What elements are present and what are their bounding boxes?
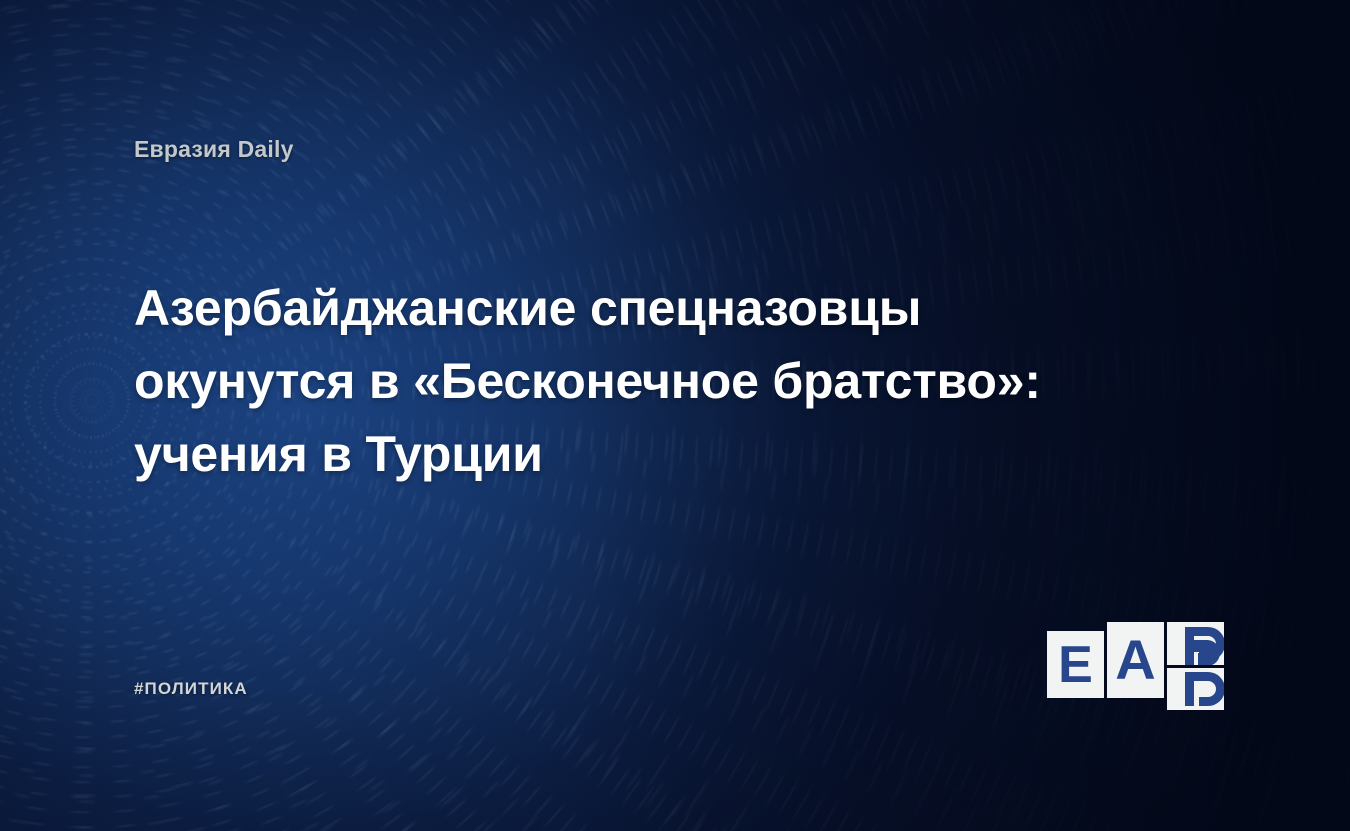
logo-letter-d-icon [1167, 622, 1224, 710]
eadaily-logo[interactable]: E A [1047, 622, 1222, 710]
page-title: Азербайджанские спецназовцы окунутся в «… [134, 272, 1154, 491]
headline-line-2: окунутся в «Бесконечное братство»: [134, 345, 1154, 418]
logo-tile-e: E [1047, 631, 1104, 698]
article-share-card: Евразия Daily Азербайджанские спецназовц… [0, 0, 1350, 831]
card-content: Евразия Daily Азербайджанские спецназовц… [0, 0, 1350, 831]
headline-line-3: учения в Турции [134, 418, 1154, 491]
logo-letter-d-upper-half [1167, 622, 1224, 665]
logo-letter-e: E [1047, 631, 1104, 698]
brand-label: Евразия Daily [134, 136, 294, 163]
category-tag[interactable]: #ПОЛИТИКА [134, 679, 248, 699]
logo-letter-d-lower-half [1167, 668, 1224, 710]
logo-letter-a: A [1107, 622, 1164, 698]
logo-tile-a: A [1107, 622, 1164, 698]
headline-line-1: Азербайджанские спецназовцы [134, 272, 1154, 345]
